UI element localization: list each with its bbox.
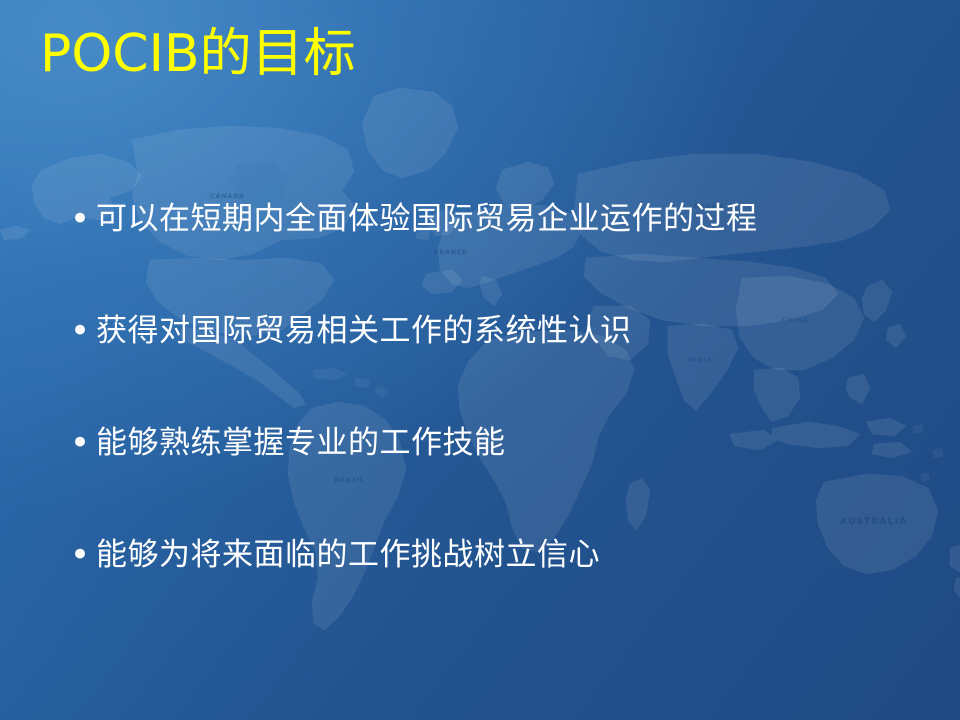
page-title: POCIB的目标: [40, 18, 920, 90]
bullet-text: 能够熟练掌握专业的工作技能: [96, 420, 942, 466]
bullet-list: • 可以在短期内全面体验国际贸易企业运作的过程 • 获得对国际贸易相关工作的系统…: [62, 196, 942, 644]
new-zealand-shape: [950, 544, 960, 600]
list-item: • 获得对国际贸易相关工作的系统性认识: [62, 308, 942, 420]
list-item: • 能够熟练掌握专业的工作技能: [62, 420, 942, 532]
presentation-slide: AUSTRALIA FRANCE CHINA BRAZIL CANADA RUS…: [0, 0, 960, 720]
list-item: • 可以在短期内全面体验国际贸易企业运作的过程: [62, 196, 942, 308]
bullet-point-icon: •: [62, 532, 96, 578]
bullet-point-icon: •: [62, 420, 96, 466]
list-item: • 能够为将来面临的工作挑战树立信心: [62, 532, 942, 644]
greenland-shape: [362, 88, 458, 178]
bullet-text: 获得对国际贸易相关工作的系统性认识: [96, 308, 942, 354]
bullet-text: 能够为将来面临的工作挑战树立信心: [96, 532, 942, 578]
aleutian-islands-shape: [0, 226, 30, 240]
title-placeholder: POCIB的目标: [40, 18, 920, 96]
bullet-point-icon: •: [62, 196, 96, 242]
bullet-text: 可以在短期内全面体验国际贸易企业运作的过程: [96, 196, 942, 242]
bullet-point-icon: •: [62, 308, 96, 354]
